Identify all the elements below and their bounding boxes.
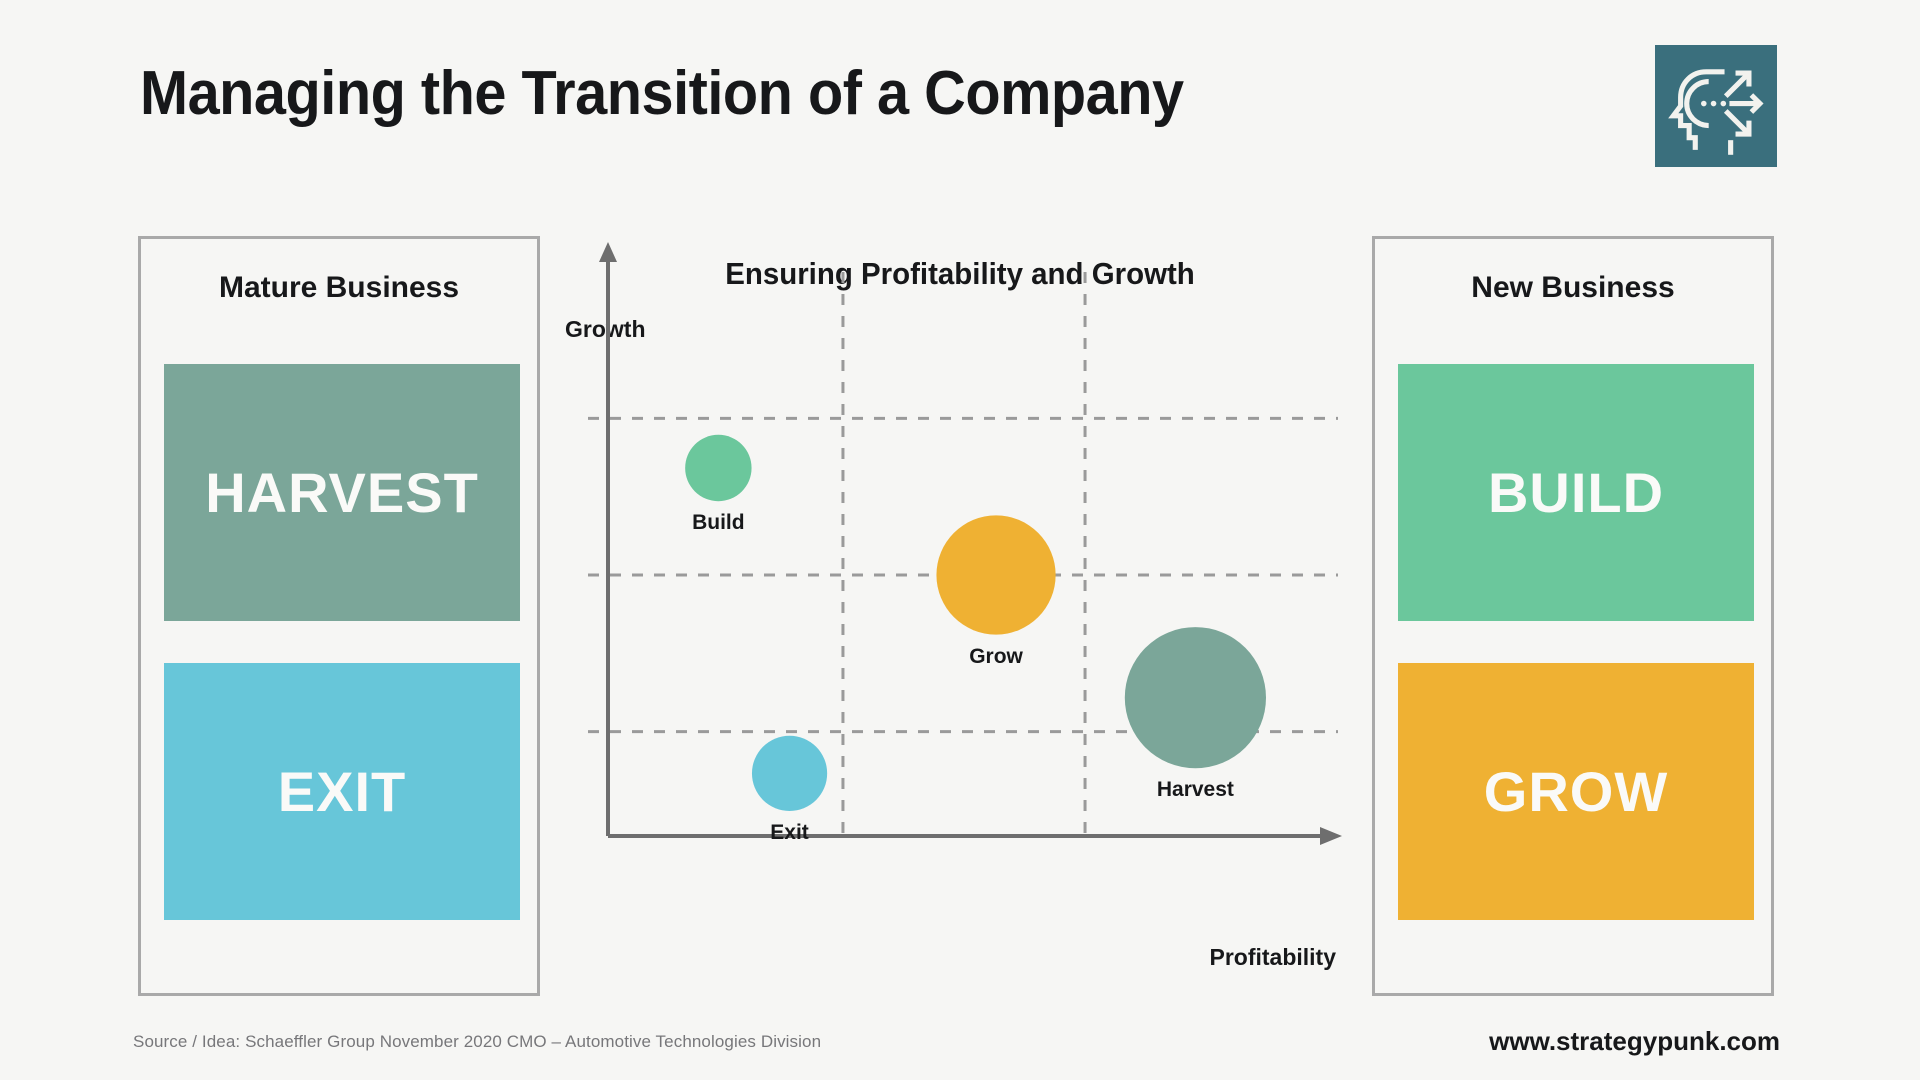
x-axis-arrowhead (1320, 827, 1342, 845)
bubble-build[interactable] (685, 435, 751, 501)
grow-box-label: GROW (1484, 759, 1668, 824)
grow-box[interactable]: GROW (1398, 663, 1754, 920)
harvest-box[interactable]: HARVEST (164, 364, 520, 621)
growth-profitability-matrix: Ensuring Profitability and Growth Growth… (560, 236, 1360, 996)
mature-business-heading: Mature Business (141, 271, 537, 305)
new-business-heading: New Business (1375, 271, 1771, 305)
bubble-exit[interactable] (752, 736, 827, 811)
bubble-label-grow: Grow (969, 645, 1023, 669)
harvest-box-label: HARVEST (205, 460, 479, 525)
mature-business-panel: Mature Business HARVEST EXIT (138, 236, 540, 996)
page-title: Managing the Transition of a Company (140, 58, 1184, 129)
chart-canvas (560, 236, 1360, 996)
chart-bubbles (685, 435, 1266, 811)
head-with-diverging-arrows-icon (1655, 45, 1777, 167)
new-business-panel: New Business BUILD GROW (1372, 236, 1774, 996)
build-box[interactable]: BUILD (1398, 364, 1754, 621)
brand-logo (1655, 45, 1777, 167)
bubble-grow[interactable] (936, 515, 1055, 634)
exit-box[interactable]: EXIT (164, 663, 520, 920)
source-note: Source / Idea: Schaeffler Group November… (133, 1032, 821, 1052)
exit-box-label: EXIT (278, 759, 406, 824)
y-axis-arrowhead (599, 242, 617, 262)
bubble-harvest[interactable] (1125, 627, 1266, 768)
bubble-label-exit: Exit (770, 821, 809, 845)
site-url: www.strategypunk.com (1489, 1026, 1780, 1057)
bubble-label-build: Build (692, 511, 745, 535)
bubble-label-harvest: Harvest (1157, 778, 1234, 802)
build-box-label: BUILD (1488, 460, 1664, 525)
